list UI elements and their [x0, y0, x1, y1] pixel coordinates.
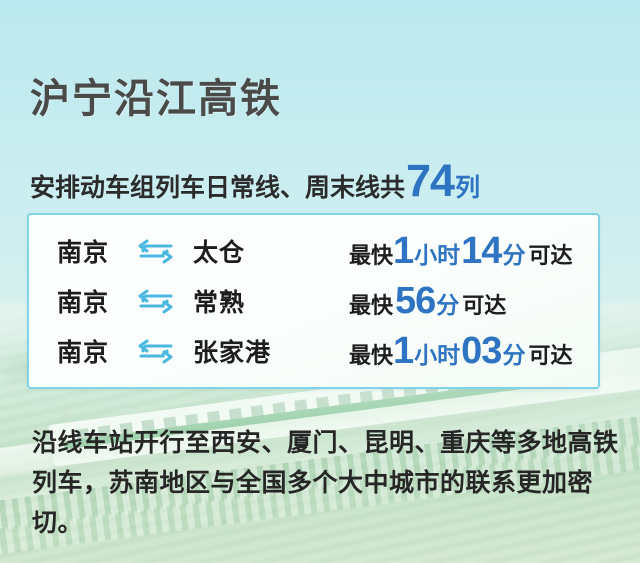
duration-minutes: 03: [461, 332, 501, 370]
duration-suffix: 可达: [528, 338, 572, 370]
duration-minutes-unit: 分: [502, 236, 525, 270]
route-row: 南京 常熟 最快 56 分 可达: [57, 277, 584, 325]
train-count-unit: 列: [455, 168, 480, 204]
duration-suffix: 可达: [528, 238, 572, 270]
page-title: 沪宁沿江高铁: [30, 66, 282, 124]
duration-hours-unit: 小时: [414, 336, 460, 370]
route-destination: 太仓: [193, 233, 349, 269]
duration-minutes-unit: 分: [436, 286, 459, 320]
route-origin: 南京: [57, 283, 135, 319]
swap-arrows-icon: [135, 338, 175, 364]
route-card: 南京 太仓 最快 1 小时 14 分 可达: [27, 213, 600, 389]
duration-hours: 1: [393, 332, 413, 370]
route-duration: 最快 1 小时 03 分 可达: [349, 332, 572, 370]
swap-arrows-icon: [135, 238, 175, 264]
duration-minutes: 56: [395, 282, 435, 320]
route-duration: 最快 1 小时 14 分 可达: [349, 232, 572, 270]
duration-minutes: 14: [461, 232, 501, 270]
duration-minutes-unit: 分: [502, 336, 525, 370]
route-row: 南京 张家港 最快 1 小时 03 分 可达: [57, 327, 584, 375]
train-count-number: 74: [406, 158, 454, 203]
route-destination: 张家港: [193, 333, 349, 369]
route-origin: 南京: [57, 233, 135, 269]
poster-content: 沪宁沿江高铁 安排动车组列车日常线、周末线共 74 列 南京 太仓 最快: [0, 0, 640, 563]
duration-label: 最快: [349, 338, 393, 370]
swap-arrows-icon: [135, 288, 175, 314]
subtitle-line: 安排动车组列车日常线、周末线共 74 列: [30, 158, 480, 204]
duration-label: 最快: [349, 238, 393, 270]
duration-hours-unit: 小时: [414, 236, 460, 270]
description-paragraph: 沿线车站开行至西安、厦门、昆明、重庆等多地高铁列车，苏南地区与全国多个大中城市的…: [32, 423, 622, 543]
route-origin: 南京: [57, 333, 135, 369]
route-row: 南京 太仓 最快 1 小时 14 分 可达: [57, 227, 584, 275]
route-destination: 常熟: [193, 283, 349, 319]
duration-hours: 1: [393, 232, 413, 270]
duration-suffix: 可达: [462, 288, 506, 320]
subtitle-text: 安排动车组列车日常线、周末线共: [30, 168, 405, 204]
route-duration: 最快 56 分 可达: [349, 282, 506, 320]
duration-label: 最快: [349, 288, 393, 320]
poster-root: 沪宁沿江高铁 安排动车组列车日常线、周末线共 74 列 南京 太仓 最快: [0, 0, 640, 563]
